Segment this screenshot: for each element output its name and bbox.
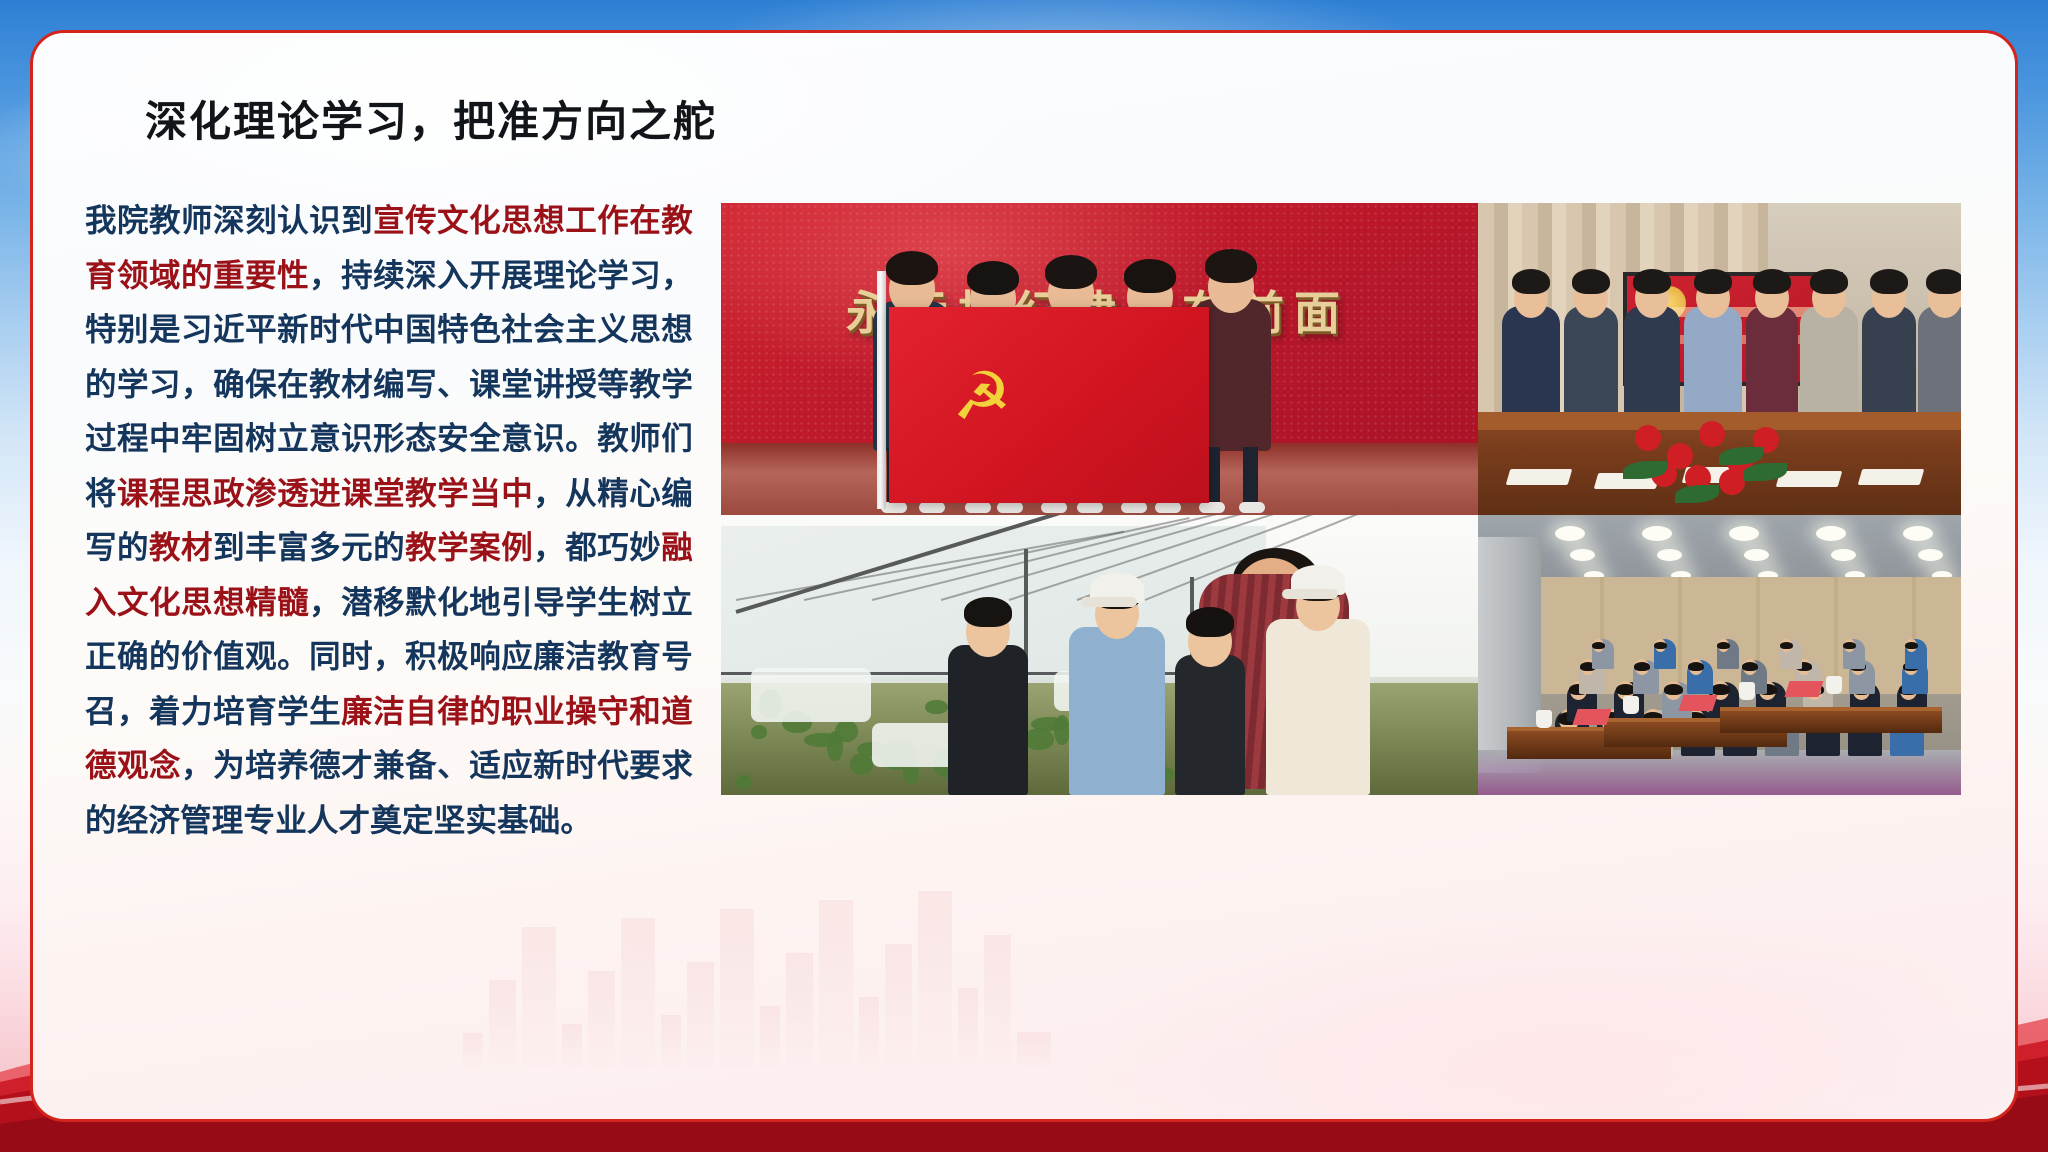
- skyline-building: [918, 891, 952, 1067]
- lecture-desk-2: [1720, 707, 1942, 733]
- student-cap-brim-3: [1282, 589, 1338, 599]
- attendee-body-1: [1564, 306, 1618, 418]
- article-highlight: 课程思政渗透进课堂教学当中: [117, 475, 533, 511]
- attendee-body-5: [1800, 306, 1858, 418]
- audience-hair-3-3: [1780, 642, 1793, 649]
- content-card: 深化理论学习，把准方向之舵 我院教师深刻认识到宣传文化思想工作在教育领域的重要性…: [30, 30, 2018, 1122]
- article-text: 我院教师深刻认识到: [85, 202, 373, 238]
- visitor-shoe-r-3: [1155, 502, 1181, 513]
- skyline-building: [489, 980, 516, 1067]
- card-skyline-watermark: [463, 857, 983, 1067]
- attendee-body-6: [1862, 306, 1916, 418]
- visitor-shoe-l-4: [1199, 502, 1225, 513]
- desk-cup-0: [1536, 710, 1552, 728]
- page-title: 深化理论学习，把准方向之舵: [145, 85, 1245, 159]
- ceiling-lamp-1-1: [1657, 549, 1682, 561]
- hammer-sickle-icon: ☭: [945, 359, 1019, 433]
- student-cap-brim-1: [1081, 597, 1137, 607]
- attendee-body-0: [1502, 306, 1560, 418]
- skyline-building: [562, 1024, 582, 1067]
- audience-hair-1-3: [1711, 684, 1730, 695]
- skyline-building: [687, 962, 714, 1067]
- ceiling-lamp-1-2: [1744, 549, 1769, 561]
- flag-pole: [877, 271, 886, 509]
- student-hair-0: [964, 597, 1012, 627]
- skyline-building: [984, 935, 1011, 1067]
- slide-root: 深化理论学习，把准方向之舵 我院教师深刻认识到宣传文化思想工作在教育领域的重要性…: [0, 0, 2048, 1152]
- visitor-hair-4: [1205, 249, 1257, 283]
- visitor-shoe-r-4: [1239, 502, 1265, 513]
- audience-hair-3-0: [1592, 642, 1605, 649]
- article-highlight: 教学案例: [405, 529, 533, 565]
- skyline-building: [661, 1015, 681, 1067]
- photo-conference-group[interactable]: [1478, 203, 1961, 515]
- photo-greenhouse-visit[interactable]: [721, 515, 1478, 795]
- student-body-0: [948, 645, 1028, 795]
- desk-cup-2: [1739, 682, 1755, 700]
- visitor-shoe-r-2: [1077, 502, 1103, 513]
- crop-plant-24: [751, 725, 767, 739]
- crop-cover-sheet-0: [751, 668, 871, 722]
- ceiling-lamp-1-4: [1918, 549, 1943, 561]
- audience-hair-1-2: [1664, 684, 1683, 695]
- photo-exhibition-party-flag[interactable]: 永远把纪律挺在前面 天津市党纪学习教育专题展 ☭: [721, 203, 1478, 515]
- attendee-hair-7: [1926, 269, 1961, 294]
- skyline-building: [819, 900, 853, 1067]
- student-body-1: [1069, 627, 1165, 795]
- attendee-hair-1: [1572, 269, 1610, 294]
- visitor-shoe-r-1: [997, 502, 1023, 513]
- photo-grid: 永远把纪律挺在前面 天津市党纪学习教育专题展 ☭: [721, 203, 1961, 795]
- audience-hair-3-2: [1717, 642, 1730, 649]
- crop-plant-21: [925, 700, 948, 714]
- visitor-shoe-l-2: [1041, 502, 1067, 513]
- article-text: ，持续深入开展理论学习，特别是习近平新时代中国特色社会主义思想的学习，确保在教材…: [85, 257, 693, 511]
- visitor-hair-3: [1124, 259, 1176, 293]
- visitor-hair-0: [886, 251, 938, 285]
- attendee-hair-5: [1810, 269, 1848, 294]
- table-document-4: [1858, 469, 1925, 485]
- desk-cup-3: [1826, 676, 1842, 694]
- skyline-building: [720, 909, 754, 1067]
- skyline-building: [885, 944, 912, 1067]
- visitor-hair-1: [967, 261, 1019, 295]
- crop-plant-20: [827, 731, 843, 761]
- skyline-building: [588, 971, 615, 1067]
- attendee-body-7: [1918, 306, 1961, 418]
- audience-hair-3-4: [1843, 642, 1856, 649]
- skyline-building: [958, 988, 978, 1067]
- skyline-building: [859, 997, 879, 1067]
- table-document-0: [1506, 469, 1573, 485]
- photo-lecture-hall[interactable]: [1478, 515, 1961, 795]
- visitor-shoe-l-1: [965, 502, 991, 513]
- desk-name-card-2: [1785, 681, 1824, 697]
- skyline-building: [760, 1006, 780, 1067]
- skyline-building: [463, 1033, 483, 1067]
- article-text: 到丰富多元的: [213, 529, 405, 565]
- party-flag: ☭: [889, 307, 1209, 503]
- article-text: ，都巧妙: [533, 529, 661, 565]
- visitor-shoe-r-0: [919, 502, 945, 513]
- student-hair-2: [1186, 607, 1234, 637]
- article-body: 我院教师深刻认识到宣传文化思想工作在教育领域的重要性，持续深入开展理论学习，特别…: [85, 193, 693, 847]
- flower-leaf-1: [1743, 463, 1787, 481]
- audience-hair-3-1: [1654, 642, 1667, 649]
- flower-leaf-3: [1719, 447, 1763, 465]
- student-body-3: [1266, 619, 1370, 795]
- conference-flower-arrangement: [1623, 399, 1793, 509]
- desk-cup-1: [1623, 696, 1639, 714]
- crop-plant-8: [1054, 715, 1070, 745]
- skyline-building: [786, 953, 813, 1067]
- desk-name-card-0: [1572, 709, 1611, 725]
- visitor-shoe-l-3: [1121, 502, 1147, 513]
- article-paragraph: 我院教师深刻认识到宣传文化思想工作在教育领域的重要性，持续深入开展理论学习，特别…: [85, 193, 693, 847]
- ceiling-lamp-1-3: [1831, 549, 1856, 561]
- crop-plant-25: [850, 753, 873, 775]
- attendee-hair-3: [1694, 269, 1732, 294]
- audience-hair-2-1: [1634, 662, 1650, 671]
- flower-0: [1635, 425, 1661, 451]
- skyline-building: [1017, 1032, 1051, 1067]
- audience-hair-3-5: [1905, 642, 1918, 649]
- desk-name-card-1: [1678, 695, 1717, 711]
- attendee-hair-0: [1512, 269, 1550, 294]
- skyline-building: [621, 918, 655, 1067]
- skyline-building: [522, 927, 556, 1067]
- attendee-hair-2: [1633, 269, 1671, 294]
- student-body-2: [1175, 655, 1245, 795]
- audience-hair-2-2: [1688, 662, 1704, 671]
- visitor-hair-2: [1045, 255, 1097, 289]
- attendee-hair-6: [1870, 269, 1908, 294]
- audience-hair-2-3: [1742, 662, 1758, 671]
- crop-plant-22: [1024, 728, 1054, 750]
- article-highlight: 教材: [149, 529, 213, 565]
- visitor-leg-r-4: [1243, 447, 1258, 509]
- flower-leaf-2: [1675, 485, 1719, 503]
- flower-2: [1699, 421, 1725, 447]
- flower-7: [1719, 469, 1745, 495]
- attendee-hair-4: [1753, 269, 1791, 294]
- ceiling-lamp-1-0: [1570, 549, 1595, 561]
